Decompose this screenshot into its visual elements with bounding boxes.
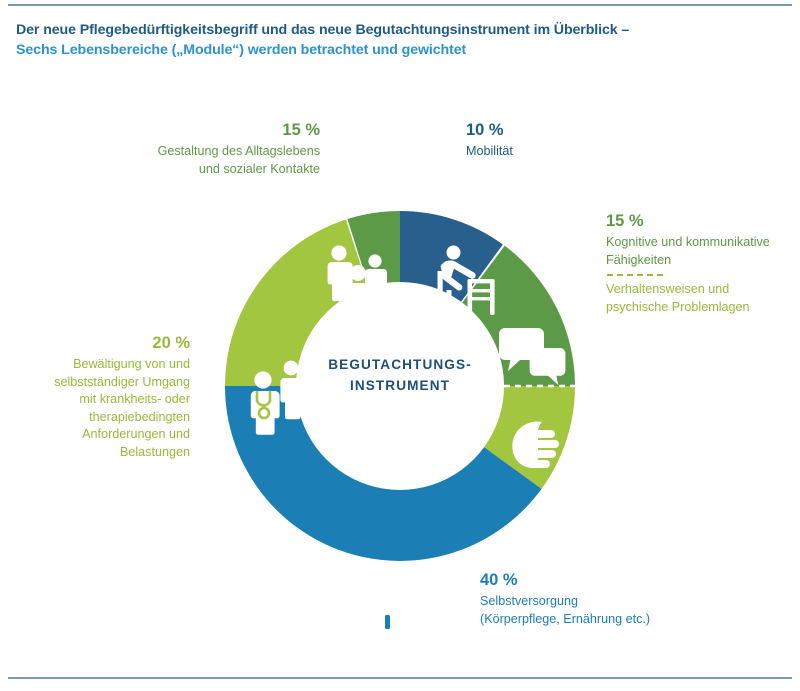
label-kognitive-verhaltensweisen: 15 % Kognitive und kommunikative Fähigke…	[606, 209, 800, 316]
page-title-line1: Der neue Pflegebedürftigkeitsbegriff und…	[16, 20, 776, 40]
center-label-line1: BEGUTACHTUNGS-	[310, 354, 490, 375]
label-verhaltensweisen-line2: psychische Problemlagen	[606, 299, 800, 317]
label-gestaltung-line1: Gestaltung des Alltagslebens	[60, 143, 320, 161]
label-kognitive-line1: Kognitive und kommunikative	[606, 234, 800, 252]
label-bewaeltigung-line1: Bewältigung von und	[8, 356, 190, 374]
label-kognitive-line2: Fähigkeiten	[606, 252, 800, 270]
label-selbstversorgung: 40 % Selbstversorgung (Körperpflege, Ern…	[480, 568, 780, 628]
label-kognitive-percent: 15 %	[606, 209, 800, 233]
label-bewaeltigung-line3: mit krankheits- oder	[8, 391, 190, 409]
label-dashed-separator	[607, 274, 663, 276]
infographic-page: Der neue Pflegebedürftigkeitsbegriff und…	[0, 0, 800, 691]
page-title-line2: Sechs Lebensbereiche („Module“) werden b…	[16, 40, 776, 60]
label-bewaeltigung-line5: Anforderungen und	[8, 426, 190, 444]
center-label: BEGUTACHTUNGS- INSTRUMENT	[310, 354, 490, 396]
label-gestaltung-percent: 15 %	[60, 118, 320, 142]
header: Der neue Pflegebedürftigkeitsbegriff und…	[16, 20, 776, 60]
house-pot-icon	[364, 573, 436, 645]
label-verhaltensweisen-line1: Verhaltensweisen und	[606, 281, 800, 299]
label-gestaltung-alltagsleben: 15 % Gestaltung des Alltagslebens und so…	[60, 118, 320, 178]
label-bewaeltigung-line6: Belastungen	[8, 444, 190, 462]
label-selbstversorgung-line2: (Körperpflege, Ernährung etc.)	[480, 611, 780, 629]
label-mobilitaet: 10 % Mobilität	[466, 118, 686, 161]
label-mobilitaet-percent: 10 %	[466, 118, 686, 142]
donut-chart: BEGUTACHTUNGS- INSTRUMENT 15 % Gestaltun…	[0, 96, 800, 666]
top-divider	[8, 4, 792, 6]
label-selbstversorgung-line1: Selbstversorgung	[480, 593, 780, 611]
label-bewaeltigung-line2: selbstständiger Umgang	[8, 374, 190, 392]
label-bewaeltigung: 20 % Bewältigung von und selbstständiger…	[8, 331, 190, 461]
label-bewaeltigung-percent: 20 %	[8, 331, 190, 355]
label-bewaeltigung-line4: therapiebedingten	[8, 409, 190, 427]
label-selbstversorgung-percent: 40 %	[480, 568, 780, 592]
center-label-line2: INSTRUMENT	[310, 375, 490, 396]
label-mobilitaet-line1: Mobilität	[466, 143, 686, 161]
bottom-divider	[8, 677, 792, 679]
label-gestaltung-line2: und sozialer Kontakte	[60, 161, 320, 179]
